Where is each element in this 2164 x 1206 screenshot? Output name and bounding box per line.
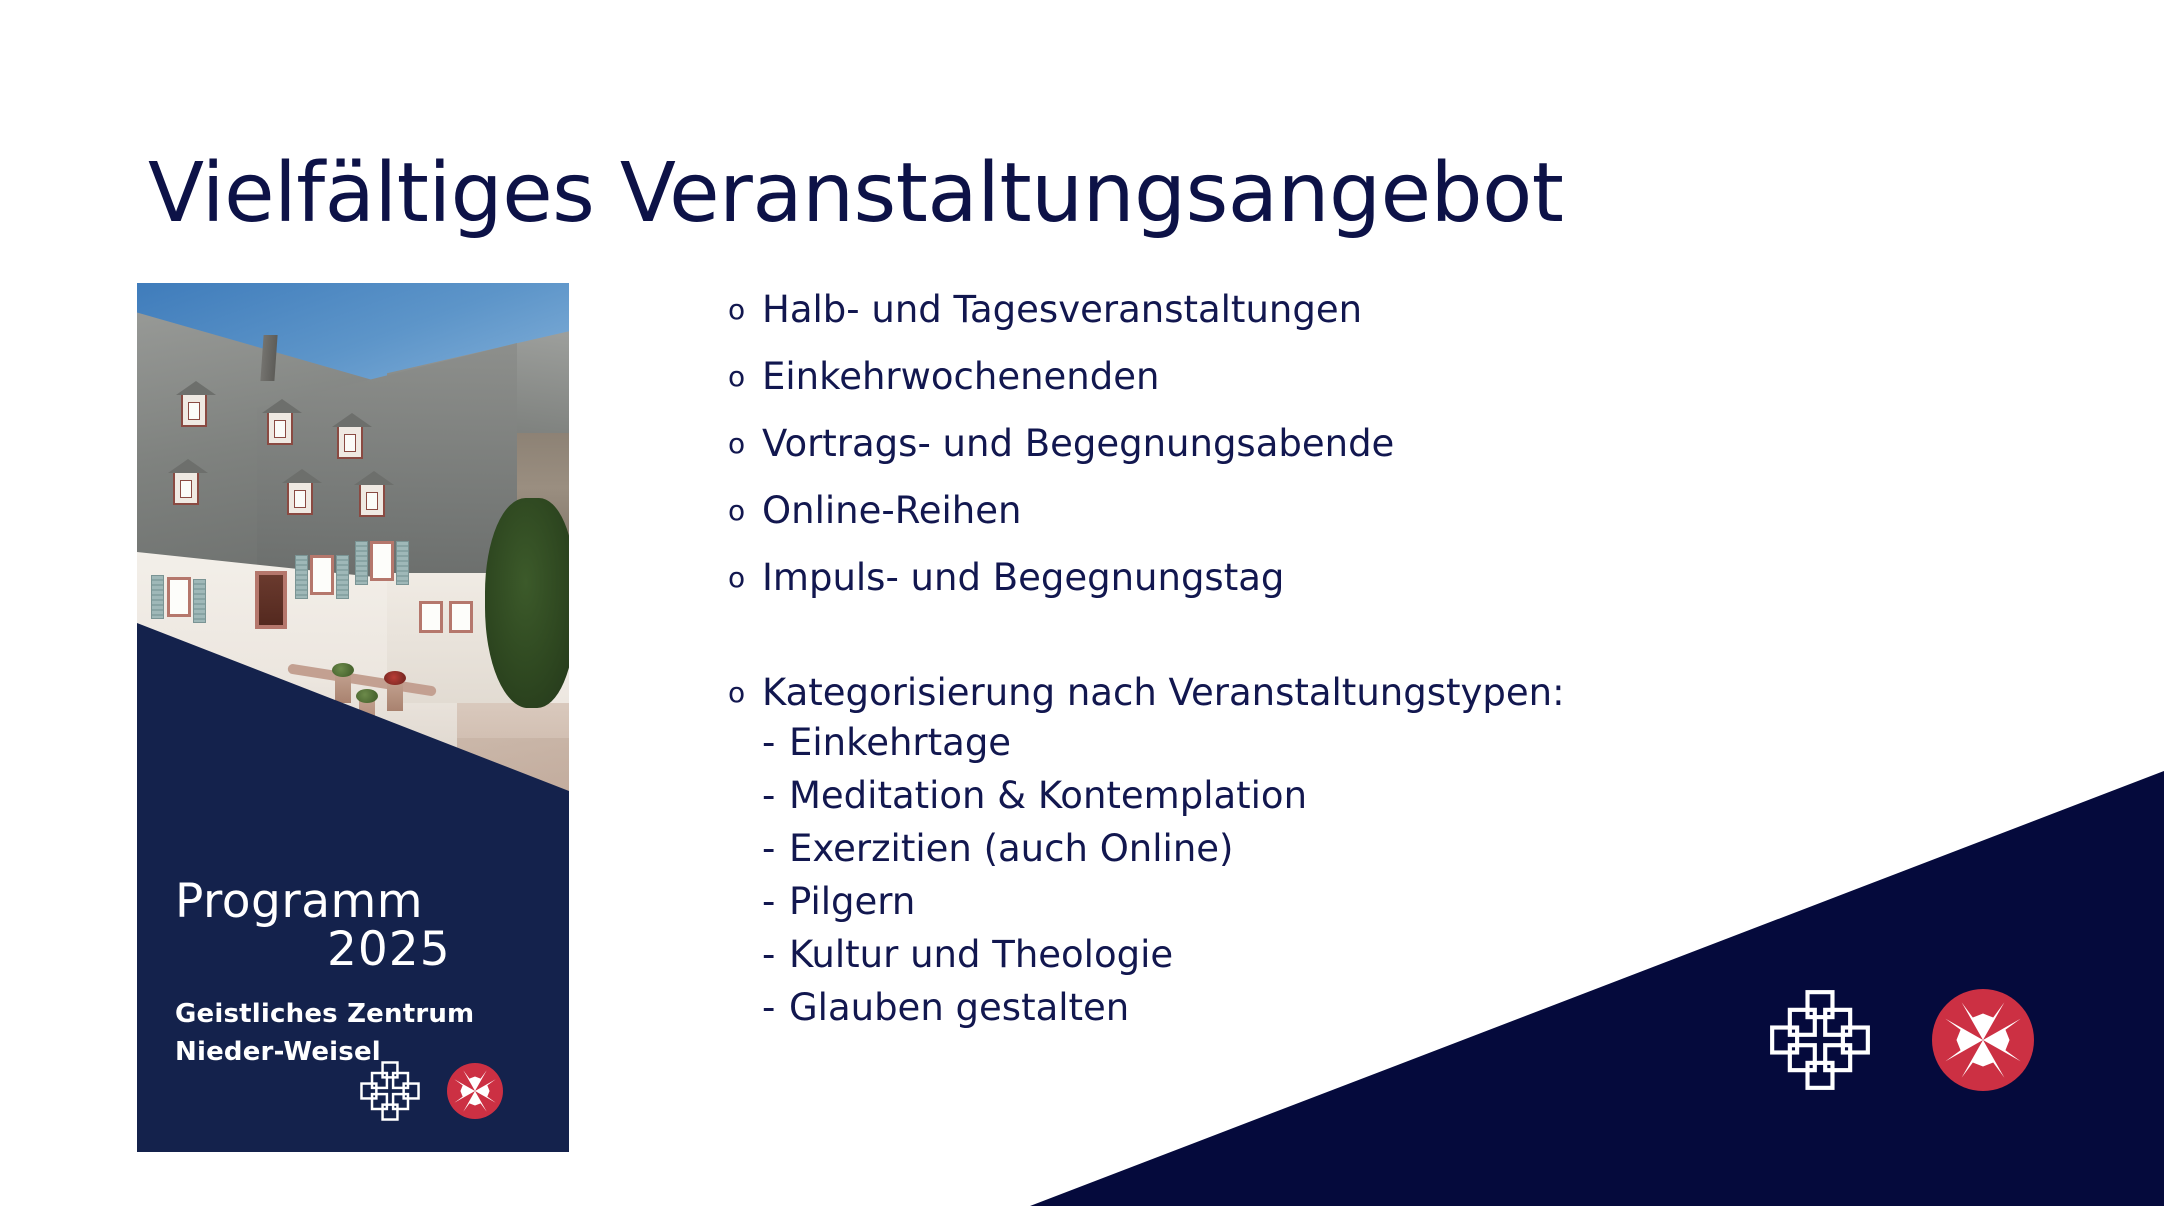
category-sub-list: - Einkehrtage - Meditation & Kontemplati…	[728, 721, 2058, 1030]
brochure-text-block: Programm 2025 Geistliches Zentrum Nieder…	[175, 878, 535, 1072]
brochure-cover: Programm 2025 Geistliches Zentrum Nieder…	[137, 283, 569, 1152]
facade-window	[370, 541, 394, 581]
list-item-label: Halb- und Tagesveranstaltungen	[762, 288, 1362, 332]
list-item: - Meditation & Kontemplation	[728, 774, 2058, 818]
dash-marker-icon: -	[762, 986, 789, 1030]
entrance-door	[255, 571, 287, 629]
brochure-photo	[137, 283, 569, 843]
brochure-year: 2025	[175, 925, 535, 974]
list-item: - Exerzitien (auch Online)	[728, 827, 2058, 871]
list-item-label: Pilgern	[789, 880, 915, 924]
bullet-marker-icon: o	[728, 671, 762, 714]
flower-planter	[359, 699, 375, 729]
dormer-window	[267, 411, 293, 445]
dormer-window	[337, 425, 363, 459]
facade-window	[419, 601, 443, 633]
list-item-label: Exerzitien (auch Online)	[789, 827, 1233, 871]
dormer-window	[287, 481, 313, 515]
list-item: - Pilgern	[728, 880, 2058, 924]
dash-marker-icon: -	[762, 721, 789, 765]
list-group-spacer	[728, 623, 2058, 671]
window-shutter	[295, 555, 308, 599]
dormer-window	[181, 393, 207, 427]
list-item-label: Online-Reihen	[762, 489, 1021, 533]
window-shutter	[336, 555, 349, 599]
category-group-heading: Kategorisierung nach Veranstaltungstypen…	[762, 671, 1565, 715]
bullet-marker-icon: o	[728, 422, 762, 465]
dash-marker-icon: -	[762, 880, 789, 924]
window-shutter	[396, 541, 409, 585]
johanniter-square-cross-icon	[359, 1060, 421, 1122]
facade-window	[449, 601, 473, 633]
list-item: - Einkehrtage	[728, 721, 2058, 765]
dash-marker-icon: -	[762, 933, 789, 977]
window-shutter	[355, 541, 368, 585]
list-item-label: Vortrags- und Begegnungsabende	[762, 422, 1394, 466]
list-item: o Online-Reihen	[728, 489, 2058, 533]
dash-marker-icon: -	[762, 774, 789, 818]
bullet-marker-icon: o	[728, 288, 762, 331]
brochure-logo-group	[359, 1060, 503, 1122]
maltese-cross-icon	[1932, 989, 2034, 1091]
list-item: o Einkehrwochenenden	[728, 355, 2058, 399]
page-title: Vielfältiges Veranstaltungsangebot	[148, 151, 2048, 237]
list-item-label: Meditation & Kontemplation	[789, 774, 1307, 818]
list-item-label: Einkehrwochenenden	[762, 355, 1159, 399]
list-item: o Vortrags- und Begegnungsabende	[728, 422, 2058, 466]
johanniter-square-cross-icon	[1768, 988, 1872, 1092]
list-item-label: Einkehrtage	[789, 721, 1011, 765]
brochure-org-line1: Geistliches Zentrum	[175, 996, 535, 1034]
list-item: - Kultur und Theologie	[728, 933, 2058, 977]
brochure-programm-label: Programm	[175, 878, 535, 925]
list-item-label: Glauben gestalten	[789, 986, 1129, 1030]
facade-window	[310, 555, 334, 595]
dash-marker-icon: -	[762, 827, 789, 871]
list-item: o Impuls- und Begegnungstag	[728, 556, 2058, 600]
list-item-label: Impuls- und Begegnungstag	[762, 556, 1284, 600]
bullet-marker-icon: o	[728, 556, 762, 599]
list-item: o Kategorisierung nach Veranstaltungstyp…	[728, 671, 2058, 715]
slide: Vielfältiges Veranstaltungsangebot	[0, 0, 2164, 1206]
maltese-cross-icon	[447, 1063, 503, 1119]
list-item: o Halb- und Tagesveranstaltungen	[728, 288, 2058, 332]
dormer-window	[359, 483, 385, 517]
facade-window	[167, 577, 191, 617]
window-shutter	[193, 579, 206, 623]
content-bullet-list: o Halb- und Tagesveranstaltungen o Einke…	[728, 288, 2058, 1039]
dormer-window	[173, 471, 199, 505]
tree	[485, 498, 569, 708]
bullet-marker-icon: o	[728, 355, 762, 398]
flower-planter	[335, 673, 351, 703]
list-item-label: Kultur und Theologie	[789, 933, 1173, 977]
flower-planter	[387, 681, 403, 711]
corner-logo-group	[1768, 988, 2034, 1092]
bullet-marker-icon: o	[728, 489, 762, 532]
window-shutter	[151, 575, 164, 619]
